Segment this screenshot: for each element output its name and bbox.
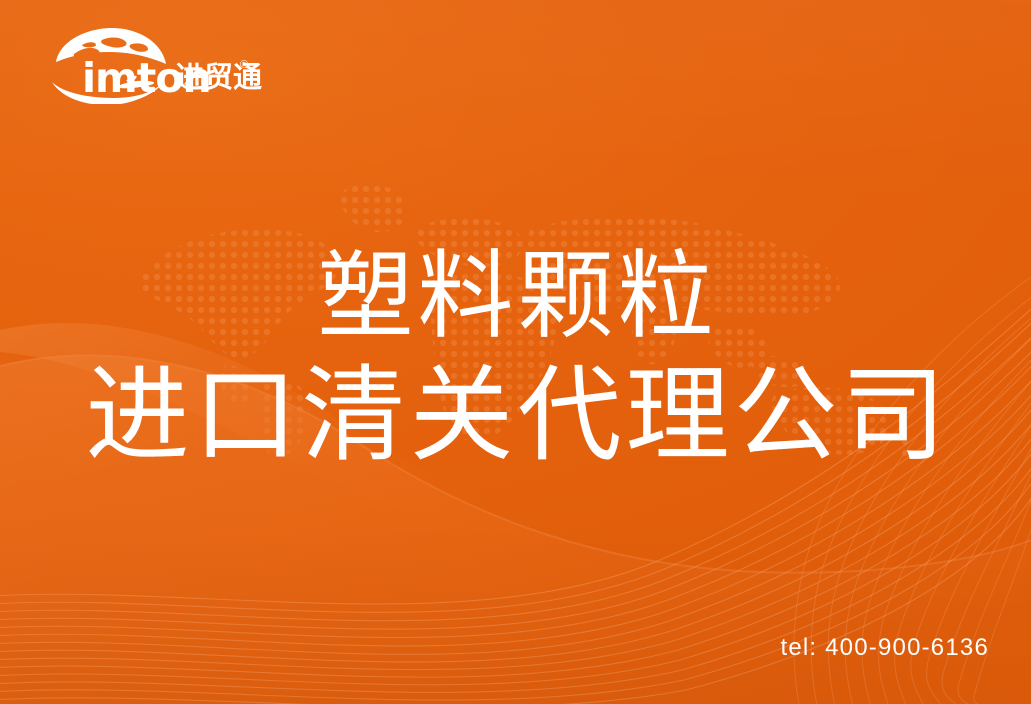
logo-chinese-name: 进贸通 xyxy=(175,63,262,92)
headline-line-2: 进口清关代理公司 xyxy=(0,354,1031,476)
contact-phone[interactable]: tel: 400-900-6136 xyxy=(780,634,989,662)
registered-mark-icon: ® xyxy=(240,60,248,71)
poster-canvas: imton 进贸通 ® 塑料颗粒 进口清关代理公司 tel: 400-900-6… xyxy=(0,0,1031,704)
headline-line-1: 塑料颗粒 xyxy=(0,238,1031,354)
page-title: 塑料颗粒 进口清关代理公司 xyxy=(0,238,1031,476)
brand-logo[interactable]: imton 进贸通 ® xyxy=(44,26,274,104)
